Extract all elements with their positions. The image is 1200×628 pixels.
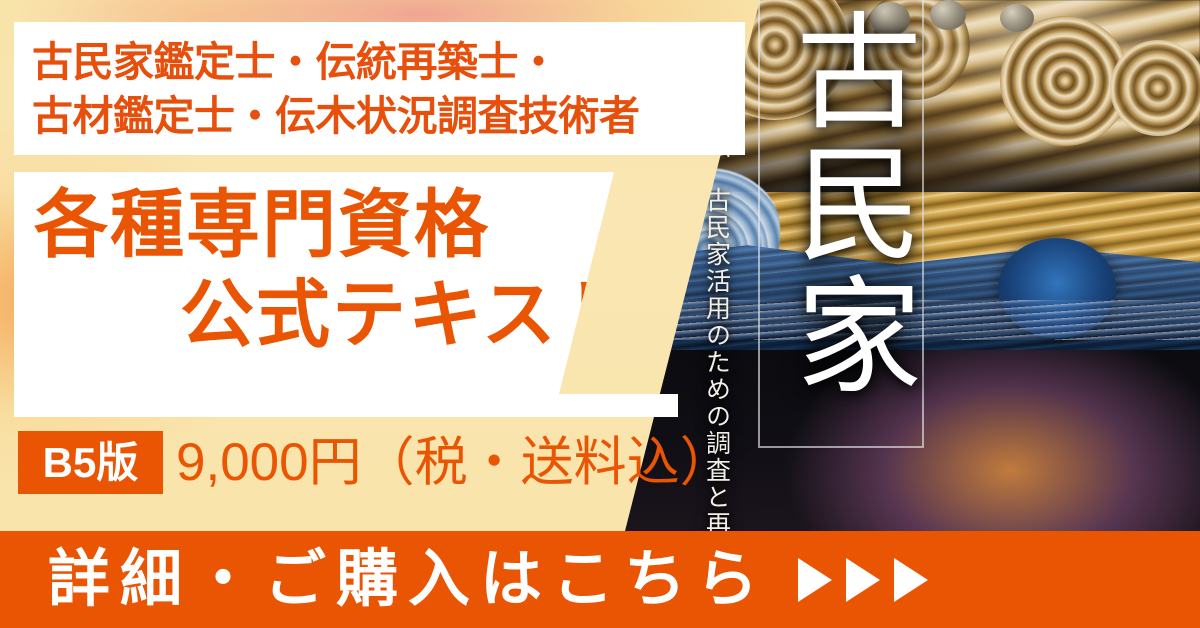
price-text: 9,000円（税・送料込） [176,434,733,492]
wood-knob [930,0,966,30]
format-badge-label: B5版 [43,442,139,484]
chevron-right-icon [846,558,880,602]
qualification-line-2: 古材鑑定士・伝木状況調査技術者 [32,89,640,143]
qualification-line-1: 古民家鑑定士・伝統再築士・ [32,35,640,89]
chevron-right-icon [798,558,832,602]
wood-swirl-icon [1110,40,1200,136]
chevron-right-icon [894,558,928,602]
cta-bar[interactable]: 詳細・ご購入はこちら [0,531,1200,628]
cta-arrows[interactable] [798,558,928,602]
main-title-line-2: 公式テキスト [180,278,634,352]
format-badge: B5版 [18,431,163,494]
wood-knob [1000,4,1034,32]
main-title-line-1: 各種専門資格 [34,188,490,262]
cover-title-vertical: 古民家 [764,6,919,402]
qualifications-panel: 古民家鑑定士・伝統再築士・ 古材鑑定士・伝木状況調査技術者 [14,22,745,155]
promo-banner: 伝統構法 古民家活用のための調査と再生の 古民家 古民家鑑定士・伝統再築士・ 古… [0,0,1200,628]
cta-label[interactable]: 詳細・ご購入はこちら [48,549,768,611]
qualifications-text: 古民家鑑定士・伝統再築士・ 古材鑑定士・伝木状況調査技術者 [32,35,640,143]
